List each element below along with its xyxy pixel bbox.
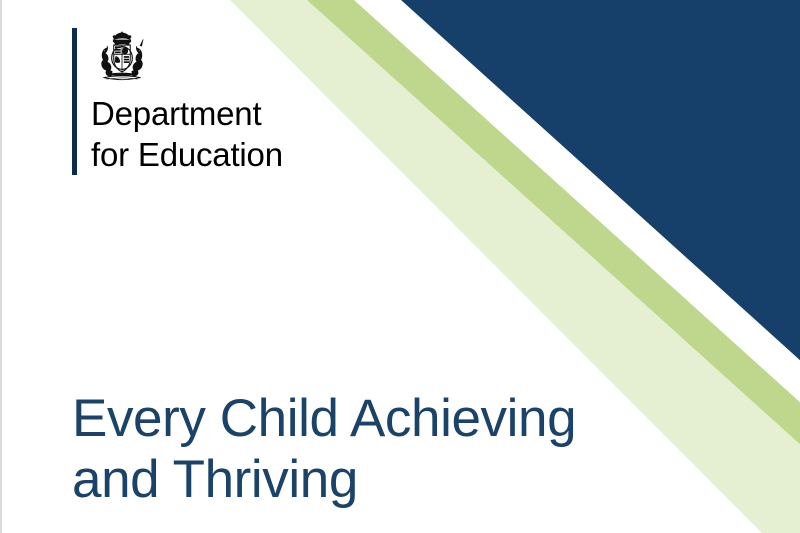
band-mid-green bbox=[307, 0, 800, 446]
logo-vertical-rule-icon bbox=[72, 28, 77, 175]
page-title-line-1: Every Child Achieving bbox=[72, 388, 576, 449]
page-title-line-2: and Thriving bbox=[72, 449, 576, 510]
page-title: Every Child Achieving and Thriving bbox=[72, 388, 576, 511]
dfe-wordmark: Department for Education bbox=[91, 94, 283, 175]
band-navy bbox=[401, 0, 800, 362]
royal-coat-of-arms-icon bbox=[91, 28, 153, 90]
wordmark-line-2: for Education bbox=[91, 135, 283, 176]
document-cover-page: Department for Education Every Child Ach… bbox=[0, 0, 800, 533]
wordmark-line-1: Department bbox=[91, 94, 283, 135]
dfe-logo-lockup: Department for Education bbox=[72, 28, 283, 175]
logo-stack: Department for Education bbox=[91, 28, 283, 175]
